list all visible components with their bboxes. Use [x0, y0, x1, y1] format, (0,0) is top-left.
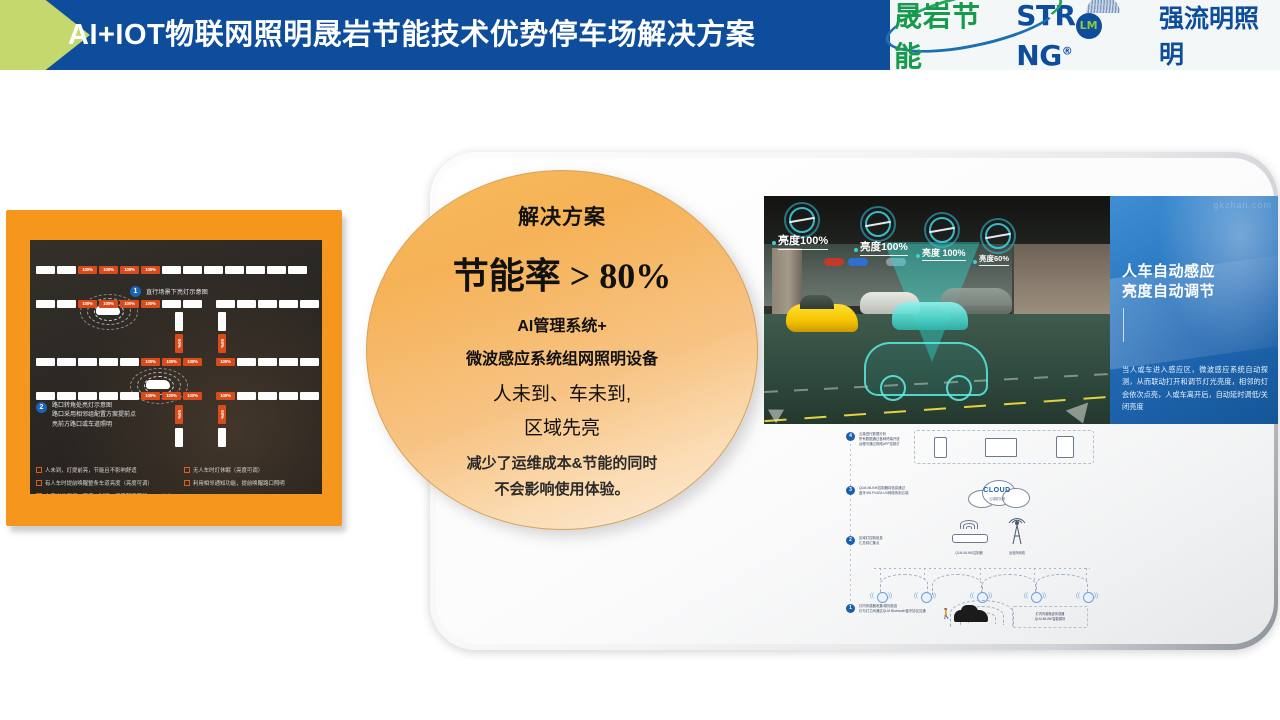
brightness-tag: 亮度100% — [860, 239, 908, 256]
lamp-off — [162, 300, 181, 308]
lamp-vertical-off — [175, 312, 183, 331]
oval-line-4: 区域先亮 — [524, 413, 600, 440]
step-number-badge: 4 — [846, 432, 855, 441]
router-body — [952, 534, 988, 543]
logo-cn-brand: 晟岩节能 — [890, 0, 1010, 75]
bullet-label: 人未到，灯提前亮，节能且不影响舒适 — [45, 466, 137, 474]
bullet-square-icon — [36, 493, 42, 494]
oval-line-5: 减少了运维成本&节能的同时 — [467, 452, 658, 473]
bullet-item: 无人车时灯休眠（亮度可调） — [184, 466, 318, 474]
solution-oval: 解决方案 节能率 > 80% AI管理系统+ 微波感应系统组网照明设备 人未到、… — [366, 170, 758, 530]
step-number-badge: 3 — [846, 486, 855, 495]
bullet-label: 无人车时灯休眠（亮度可调） — [193, 466, 263, 474]
cloud-icon: CLOUD 云端服务器 — [964, 478, 1030, 506]
lamp-on: 100% — [141, 266, 160, 274]
lamp-vertical-dim: 50% — [175, 334, 183, 353]
oval-headline: 节能率 > 80% — [453, 247, 672, 299]
yellow-car — [786, 304, 858, 332]
step-line: 汇总到汇集点 — [859, 541, 879, 545]
tag-dot-icon — [973, 260, 977, 264]
oval-line-2: 微波感应系统组网照明设备 — [466, 345, 658, 369]
lamp-on: 100% — [120, 266, 139, 274]
lamp-row-2: 100% 100% 100% 100% — [36, 300, 202, 308]
lamp-on: 100% — [78, 266, 97, 274]
diagram-note-box: 灯内内置微波传感器 QLM-MLINK智能模块 — [1012, 606, 1088, 628]
bullet-square-icon — [184, 480, 190, 486]
note-number-badge: 1 — [130, 286, 141, 297]
step-text: QLM-MLINK控制器将信息通过 蓝牙/WI-FI/4G/LUX网络传到云端 — [859, 486, 908, 496]
note-line: QLM-MLINK智能模块 — [1035, 617, 1065, 622]
lamp-off — [300, 392, 319, 400]
wave-left: (( — [870, 593, 874, 600]
wifi-arc — [966, 526, 972, 529]
bullet-square-icon — [36, 467, 42, 473]
lamp-off — [237, 358, 256, 366]
oval-line-6: 不会影响使用体验。 — [494, 478, 629, 499]
tablet-icon — [1056, 436, 1074, 458]
diagram-step-1: 1 灯内传感器收集/感知信息 灯与灯之间通过QLM Bluetooth蓝牙协议互… — [846, 604, 926, 614]
note-number-badge: 2 — [36, 402, 47, 413]
lamp-row-3: 100% 100% 100% — [36, 358, 202, 366]
step-number-badge: 1 — [846, 604, 855, 613]
wave-left: (( — [1024, 593, 1028, 600]
network-architecture-diagram: 4 云端进行数据分析 所有数据通过各种终端开放 远程可通过网络APP控制灯 3 … — [836, 424, 1112, 636]
lamp-off — [300, 358, 319, 366]
blue-info-panel: gkzhan.com 人车自动感应 亮度自动调节 当人或车进入感应区，微波感应系… — [1110, 196, 1278, 424]
smart-lamp-icon: (( )) — [1076, 590, 1098, 604]
lamp-off — [237, 392, 256, 400]
lamp-off — [36, 392, 55, 400]
lamp-on: 100% — [216, 358, 235, 366]
lamp-off — [216, 300, 235, 308]
registered-mark: ® — [1062, 44, 1073, 57]
tower-svg — [1002, 516, 1032, 546]
lamp-off — [57, 300, 76, 308]
client-devices-group — [914, 430, 1094, 464]
schematic-note-1: 1 直行场景下亮灯示意图 — [130, 286, 208, 297]
wheel-icon — [946, 375, 972, 401]
lamp-row-3b: 100% — [216, 358, 319, 366]
schematic-note-2: 2 路口转角处亮灯示意图 路口采用相邻组配置方案提前点 亮前方路口或车道照明 — [36, 402, 136, 430]
lamp-off — [225, 266, 244, 274]
step-line: QLM-MLINK控制器将信息通过 — [859, 486, 905, 490]
tag-dot-icon — [916, 254, 920, 258]
step-line: 区域灯控制信息 — [859, 536, 883, 540]
watermark: gkzhan.com — [1213, 200, 1272, 210]
bullet-label: 利用相邻通知功能，提前唤醒路口照明 — [193, 479, 285, 487]
note-1-text: 直行场景下亮灯示意图 — [146, 287, 208, 296]
cell-tower-icon — [1002, 516, 1032, 546]
step-line: 云端进行数据分析 — [859, 432, 886, 436]
lamp-off — [162, 266, 181, 274]
oval-line-1: AI管理系统+ — [517, 312, 606, 336]
smart-lamp-icon: (( )) — [1024, 590, 1046, 604]
lamp-on: 100% — [120, 300, 139, 308]
brightness-tag: 亮度60% — [979, 253, 1009, 266]
wifi-icon — [961, 520, 977, 532]
blue-panel-body: 当人或车进入感应区，微波感应系统自动探测，从而联动打开和调节灯光亮度，相邻的灯会… — [1122, 364, 1268, 414]
lamp-vertical-off — [218, 428, 226, 447]
phone-icon — [934, 437, 947, 458]
bullet-item: 自定义分区组、亮度、时延，灵活配置节能 80% 以上 — [36, 492, 184, 494]
lamp-off — [183, 300, 202, 308]
lamp-off — [78, 392, 97, 400]
smart-lamp-icon: (( )) — [914, 590, 936, 604]
diagram-step-3: 3 QLM-MLINK控制器将信息通过 蓝牙/WI-FI/4G/LUX网络传到云… — [846, 486, 908, 496]
lamp-off — [36, 266, 55, 274]
bullet-label: 自定义分区组、亮度、时延，灵活配置节能 80% 以上 — [45, 492, 172, 494]
side-room — [1012, 244, 1110, 316]
page-title: AI+IOT物联网照明晟岩节能技术优势停车场解决方案 — [68, 0, 755, 70]
bullet-square-icon — [184, 467, 190, 473]
lamp-on: 100% — [99, 300, 118, 308]
ceiling-lamp-icon — [865, 211, 891, 237]
brightness-tag: 亮度 100% — [922, 246, 966, 261]
diagram-step-4: 4 云端进行数据分析 所有数据通过各种终端开放 远程可通过网络APP控制灯 — [846, 432, 900, 447]
oval-line-3: 人未到、车未到, — [493, 379, 631, 406]
lamp-off — [246, 266, 265, 274]
lamp-off — [99, 358, 118, 366]
lamp-vertical-dim: 50% — [175, 405, 183, 424]
lamp-vertical-off — [175, 428, 183, 447]
wave-right: )) — [1094, 593, 1098, 600]
lamp-off — [279, 300, 298, 308]
parking-lighting-schematic: 100% 100% 100% 100% 1 直行场景下亮灯示意图 100% 10… — [30, 240, 322, 494]
step-text: 灯内传感器收集/感知信息 灯与灯之间通过QLM Bluetooth蓝牙协议互通 — [859, 604, 926, 614]
lamp-on: 100% — [141, 358, 160, 366]
lamp-on: 100% — [141, 392, 160, 400]
wave-left: (( — [1076, 593, 1080, 600]
lamp-bulb — [921, 592, 932, 603]
logo-cn-brand-2: 强流明照明 — [1159, 0, 1280, 71]
feature-bullet-list: 人未到，灯提前亮，节能且不影响舒适 无人车时灯休眠（亮度可调） 有人车时提前唤醒… — [36, 466, 318, 494]
parked-car — [824, 258, 844, 266]
car-icon — [146, 380, 170, 389]
lamp-off — [237, 300, 256, 308]
lamp-off — [258, 300, 277, 308]
brand-logo: 晟岩节能 STRLMNG® 强流明照明 — [887, 0, 1280, 70]
wave-right: )) — [932, 593, 936, 600]
lamp-on: 100% — [78, 300, 97, 308]
lamp-bulb — [877, 592, 888, 603]
step-line: 所有数据通过各种终端开放 — [859, 437, 900, 441]
step-line: 灯内传感器收集/感知信息 — [859, 604, 897, 608]
lamp-off — [78, 358, 97, 366]
slide-root: AI+IOT物联网照明晟岩节能技术优势停车场解决方案 晟岩节能 STRLMNG®… — [0, 0, 1280, 720]
lamp-off — [300, 300, 319, 308]
bullet-item: 利用相邻通知功能，提前唤醒路口照明 — [184, 479, 318, 487]
tower-label: 运营商网络 — [988, 550, 1046, 555]
wireframe-car-icon — [864, 342, 988, 396]
laptop-icon — [985, 438, 1017, 457]
lamp-off — [57, 392, 76, 400]
router-icon — [948, 520, 990, 546]
timeline-spine — [850, 434, 851, 602]
wave-right: )) — [888, 593, 892, 600]
pedestrian-icon: 🚶 — [940, 610, 952, 620]
wave-right: )) — [988, 593, 992, 600]
lamp-row-1: 100% 100% 100% 100% — [36, 266, 307, 274]
lamp-off — [258, 358, 277, 366]
lamp-on: 100% — [183, 392, 202, 400]
step-text: 区域灯控制信息 汇总到汇集点 — [859, 536, 883, 546]
lamp-bulb — [1031, 592, 1042, 603]
blue-panel-heading-2: 亮度自动调节 — [1122, 280, 1215, 301]
divider — [1123, 308, 1124, 342]
ceiling-lamp-icon — [789, 207, 815, 233]
lamp-on: 100% — [162, 358, 181, 366]
lamp-on: 100% — [99, 266, 118, 274]
wave-right: )) — [1042, 593, 1046, 600]
step-text: 云端进行数据分析 所有数据通过各种终端开放 远程可通过网络APP控制灯 — [859, 432, 900, 447]
step-line: 灯与灯之间通过QLM Bluetooth蓝牙协议互通 — [859, 609, 926, 613]
step-number-badge: 2 — [846, 536, 855, 545]
lamp-vertical-off — [218, 312, 226, 331]
lamp-off — [279, 392, 298, 400]
lamp-row-4b: 100% — [216, 392, 319, 400]
step-line: 远程可通过网络APP控制灯 — [859, 442, 900, 446]
tag-dot-icon — [772, 241, 776, 245]
logo-en-post: NG — [1016, 39, 1061, 72]
lamp-off — [279, 358, 298, 366]
lamp-vertical-dim: 50% — [218, 405, 226, 424]
lamp-off — [183, 266, 202, 274]
lamp-row-4: 100% 100% 100% — [36, 392, 202, 400]
bullet-item: 人未到，灯提前亮，节能且不影响舒适 — [36, 466, 184, 474]
lamp-bulb — [1083, 592, 1094, 603]
parking-garage-photo: 亮度100% 亮度100% 亮度 100% 亮度60% — [764, 196, 1110, 424]
lamp-off — [267, 266, 286, 274]
wave-left: (( — [914, 593, 918, 600]
lamp-off — [57, 358, 76, 366]
lamp-off — [288, 266, 307, 274]
wheel-icon — [880, 375, 906, 401]
lamp-off — [120, 392, 139, 400]
note-2-line-1: 路口转角处亮灯示意图 — [52, 403, 112, 409]
bus-line — [874, 568, 1090, 569]
ceiling-lamp-icon — [985, 223, 1011, 249]
lamp-on: 100% — [141, 300, 160, 308]
lamp-on: 100% — [162, 392, 181, 400]
diagram-step-2: 2 区域灯控制信息 汇总到汇集点 — [846, 536, 883, 546]
lamp-off — [36, 300, 55, 308]
note-2-line-2: 路口采用相邻组配置方案提前点 — [52, 412, 136, 418]
wave-left: (( — [970, 593, 974, 600]
blue-panel-heading-1: 人车自动感应 — [1122, 260, 1215, 281]
bullet-item: 有人车时提前唤醒整条车道亮度（亮度可调） — [36, 479, 184, 487]
lamp-vertical-dim: 50% — [218, 334, 226, 353]
lamp-off — [99, 392, 118, 400]
car-icon — [954, 610, 988, 622]
lamp-off — [204, 266, 223, 274]
parked-car — [848, 258, 868, 266]
brightness-tag: 亮度100% — [778, 232, 828, 250]
bullet-square-icon — [36, 480, 42, 486]
bullet-label: 有人车时提前唤醒整条车道亮度（亮度可调） — [45, 479, 153, 487]
lamp-on: 100% — [216, 392, 235, 400]
lamp-off — [258, 392, 277, 400]
cloud-sublabel: 云端服务器 — [964, 496, 1030, 501]
lamp-on: 100% — [183, 358, 202, 366]
note-2-line-3: 亮前方路口或车道照明 — [52, 422, 112, 428]
oval-title: 解决方案 — [518, 201, 606, 231]
tag-dot-icon — [854, 248, 858, 252]
logo-o-badge: LM — [1076, 13, 1102, 39]
step-line: 蓝牙/WI-FI/4G/LUX网络传到云端 — [859, 491, 908, 495]
ceiling-lamp-icon — [929, 217, 955, 243]
highlighted-car — [892, 302, 968, 330]
cloud-label: CLOUD — [964, 487, 1030, 494]
lamp-off — [36, 358, 55, 366]
lamp-off — [120, 358, 139, 366]
lamp-off — [57, 266, 76, 274]
smart-lamp-icon: (( )) — [870, 590, 892, 604]
note-2-text: 路口转角处亮灯示意图 路口采用相邻组配置方案提前点 亮前方路口或车道照明 — [52, 402, 136, 430]
lamp-row-2b — [216, 300, 319, 308]
